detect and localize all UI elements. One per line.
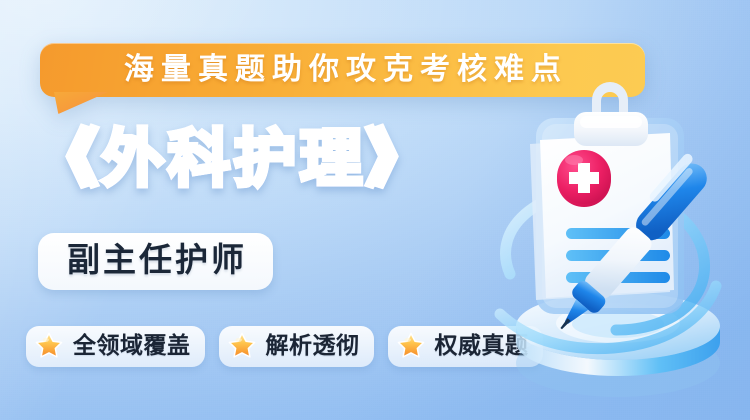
subtitle-text: 副主任护师 <box>64 242 247 279</box>
star-icon <box>227 331 257 361</box>
medical-cross-badge <box>557 150 611 207</box>
feature-item: 解析透彻 <box>219 326 374 367</box>
promo-banner: 海量真题助你攻克考核难点 《外科护理》 副主任护师 全领域覆盖 <box>0 0 750 420</box>
page-title: 《外科护理》 <box>36 127 432 192</box>
subtitle-pill: 副主任护师 <box>38 233 273 290</box>
feature-label: 解析透彻 <box>266 332 360 360</box>
star-icon <box>396 331 426 361</box>
feature-item: 全领域覆盖 <box>26 326 205 367</box>
feature-list: 全领域覆盖 解析透彻 权威真题 <box>26 326 543 367</box>
clipboard-illustration <box>470 78 750 408</box>
clipboard-clip <box>574 82 648 146</box>
ribbon-tail-fold <box>54 92 108 114</box>
feature-label: 全领域覆盖 <box>73 332 191 360</box>
star-icon <box>34 331 64 361</box>
